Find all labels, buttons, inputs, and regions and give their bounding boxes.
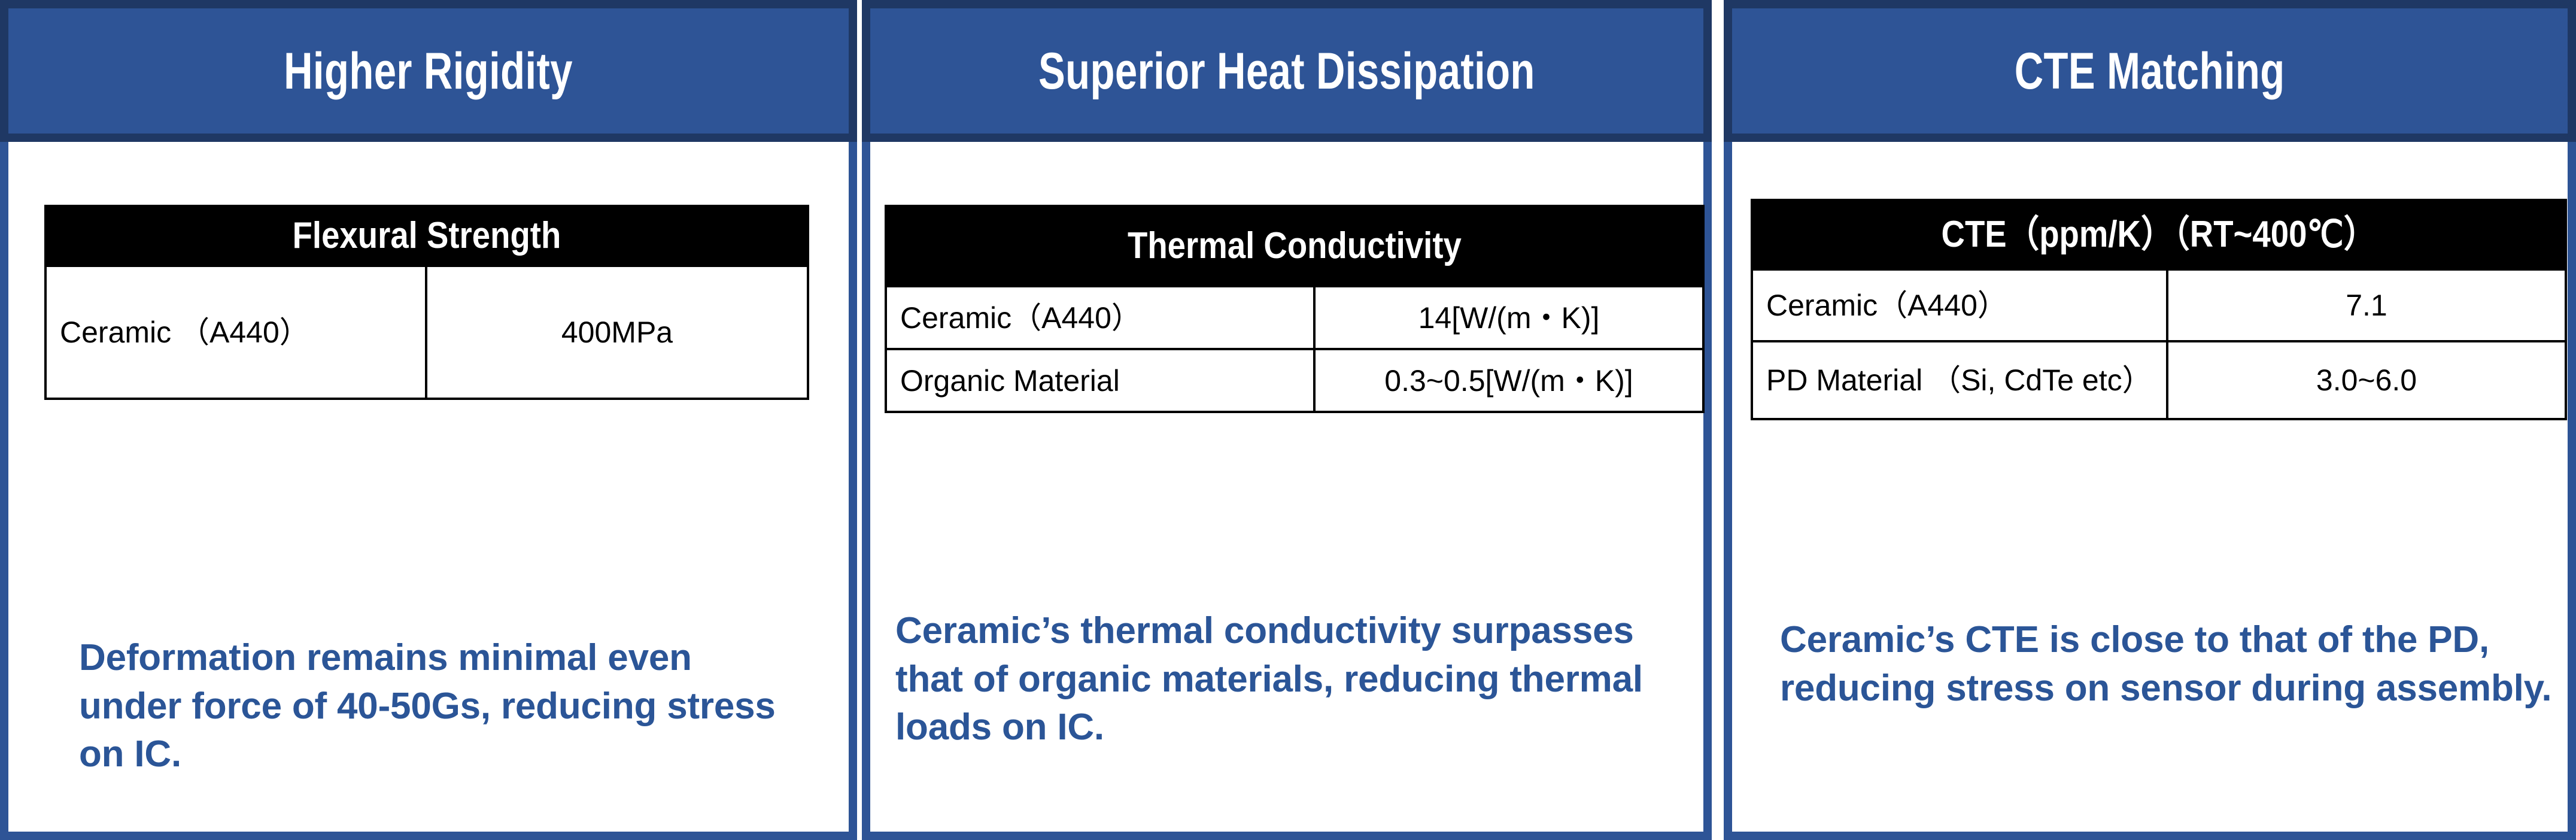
panel-higher-rigidity: Higher Rigidity Flexural Strength Cerami…: [0, 0, 857, 840]
cte-table: CTE（ppm/K）（RT~400℃） Ceramic（A440） 7.1 PD…: [1751, 199, 2567, 420]
row-label: Ceramic（A440）: [886, 286, 1314, 349]
table-header-cell: Thermal Conductivity: [886, 206, 1703, 286]
table-row: Ceramic （A440） 400MPa: [45, 266, 808, 399]
table-header-row: Thermal Conductivity: [886, 206, 1703, 286]
comparison-board: Higher Rigidity Flexural Strength Cerami…: [0, 0, 2576, 840]
table-row: Organic Material 0.3~0.5[W/(m・K)]: [886, 349, 1703, 412]
table-row: Ceramic（A440） 7.1: [1752, 269, 2566, 341]
row-label: Ceramic （A440）: [45, 266, 426, 399]
flexural-strength-table: Flexural Strength Ceramic （A440） 400MPa: [44, 205, 809, 400]
table-header-label: CTE（ppm/K）（RT~400℃）: [1942, 213, 2377, 256]
row-label: Organic Material: [886, 349, 1314, 412]
panel-superior-heat-dissipation: Superior Heat Dissipation Thermal Conduc…: [862, 0, 1712, 840]
panel-header-higher-rigidity: Higher Rigidity: [0, 0, 857, 142]
table-header-cell: CTE（ppm/K）（RT~400℃）: [1752, 200, 2566, 269]
table-header-row: CTE（ppm/K）（RT~400℃）: [1752, 200, 2566, 269]
row-label: PD Material （Si, CdTe etc）: [1752, 341, 2167, 419]
row-value: 7.1: [2167, 269, 2566, 341]
table-row: PD Material （Si, CdTe etc） 3.0~6.0: [1752, 341, 2566, 419]
row-value: 400MPa: [426, 266, 808, 399]
table-header-cell: Flexural Strength: [45, 206, 808, 266]
table-header-row: Flexural Strength: [45, 206, 808, 266]
panel-cte-matching: CTE Matching CTE（ppm/K）（RT~400℃） Ceramic…: [1724, 0, 2576, 840]
panel-body-higher-rigidity: Flexural Strength Ceramic （A440） 400MPa …: [0, 142, 857, 840]
table-row: Ceramic（A440） 14[W/(m・K)]: [886, 286, 1703, 349]
panel-body-superior-heat-dissipation: Thermal Conductivity Ceramic（A440） 14[W/…: [862, 142, 1712, 840]
panel-title: CTE Matching: [2015, 46, 2285, 97]
thermal-conductivity-table: Thermal Conductivity Ceramic（A440） 14[W/…: [885, 205, 1705, 413]
panel-caption: Deformation remains minimal even under f…: [79, 634, 785, 779]
table-header-label: Flexural Strength: [293, 214, 561, 257]
panel-title: Higher Rigidity: [284, 46, 573, 97]
panel-header-cte-matching: CTE Matching: [1724, 0, 2576, 142]
row-value: 3.0~6.0: [2167, 341, 2566, 419]
row-label: Ceramic（A440）: [1752, 269, 2167, 341]
panel-header-superior-heat-dissipation: Superior Heat Dissipation: [862, 0, 1712, 142]
table-header-label: Thermal Conductivity: [1128, 225, 1462, 268]
panel-title: Superior Heat Dissipation: [1038, 46, 1535, 97]
panel-caption: Ceramic’s thermal conductivity surpasses…: [895, 607, 1691, 752]
row-value: 14[W/(m・K)]: [1314, 286, 1703, 349]
row-value: 0.3~0.5[W/(m・K)]: [1314, 349, 1703, 412]
panel-body-cte-matching: CTE（ppm/K）（RT~400℃） Ceramic（A440） 7.1 PD…: [1724, 142, 2576, 840]
panel-caption: Ceramic’s CTE is close to that of the PD…: [1780, 616, 2564, 712]
